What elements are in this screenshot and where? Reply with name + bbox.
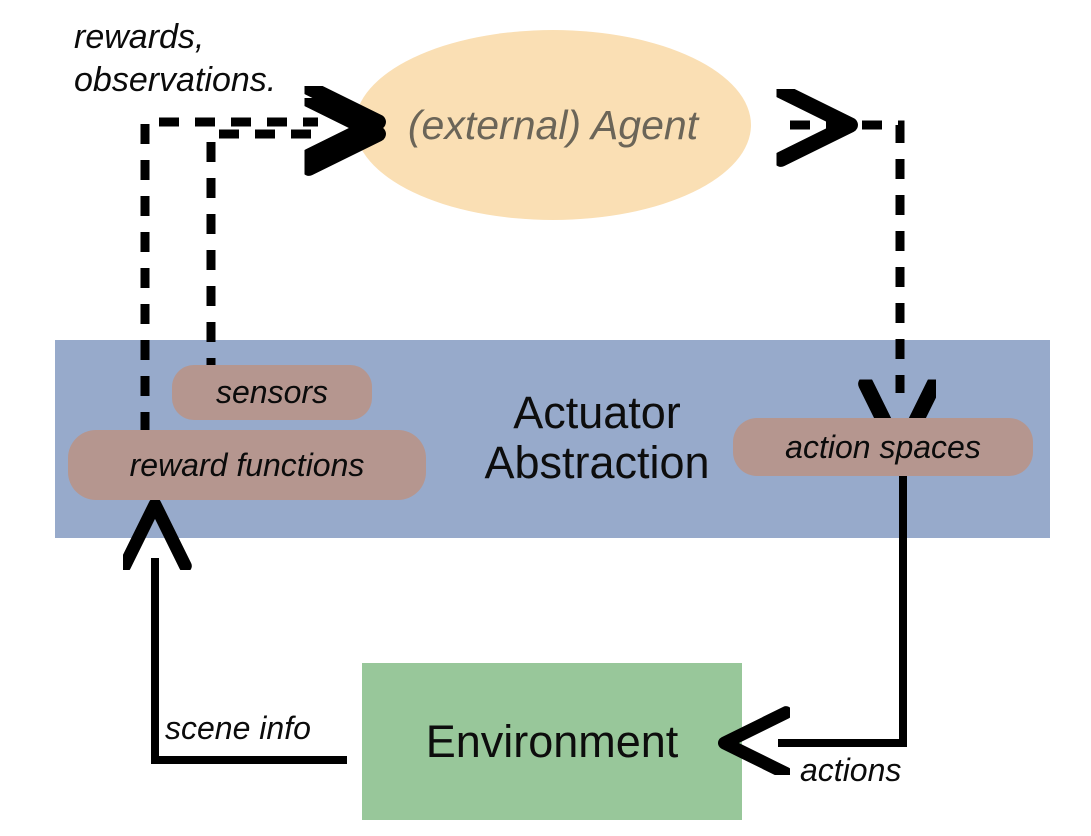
pill-sensors-shape[interactable] — [172, 365, 372, 420]
pill-reward-functions-shape[interactable] — [68, 430, 426, 500]
diagram-svg-layer — [0, 0, 1091, 836]
diagram-canvas: (external) Agent Actuator Abstraction En… — [0, 0, 1091, 836]
pill-action-spaces-shape[interactable] — [733, 418, 1033, 476]
edge-scene-info-to-abstraction — [155, 558, 347, 760]
environment-box-shape — [362, 663, 742, 820]
agent-ellipse-shape — [355, 30, 751, 220]
